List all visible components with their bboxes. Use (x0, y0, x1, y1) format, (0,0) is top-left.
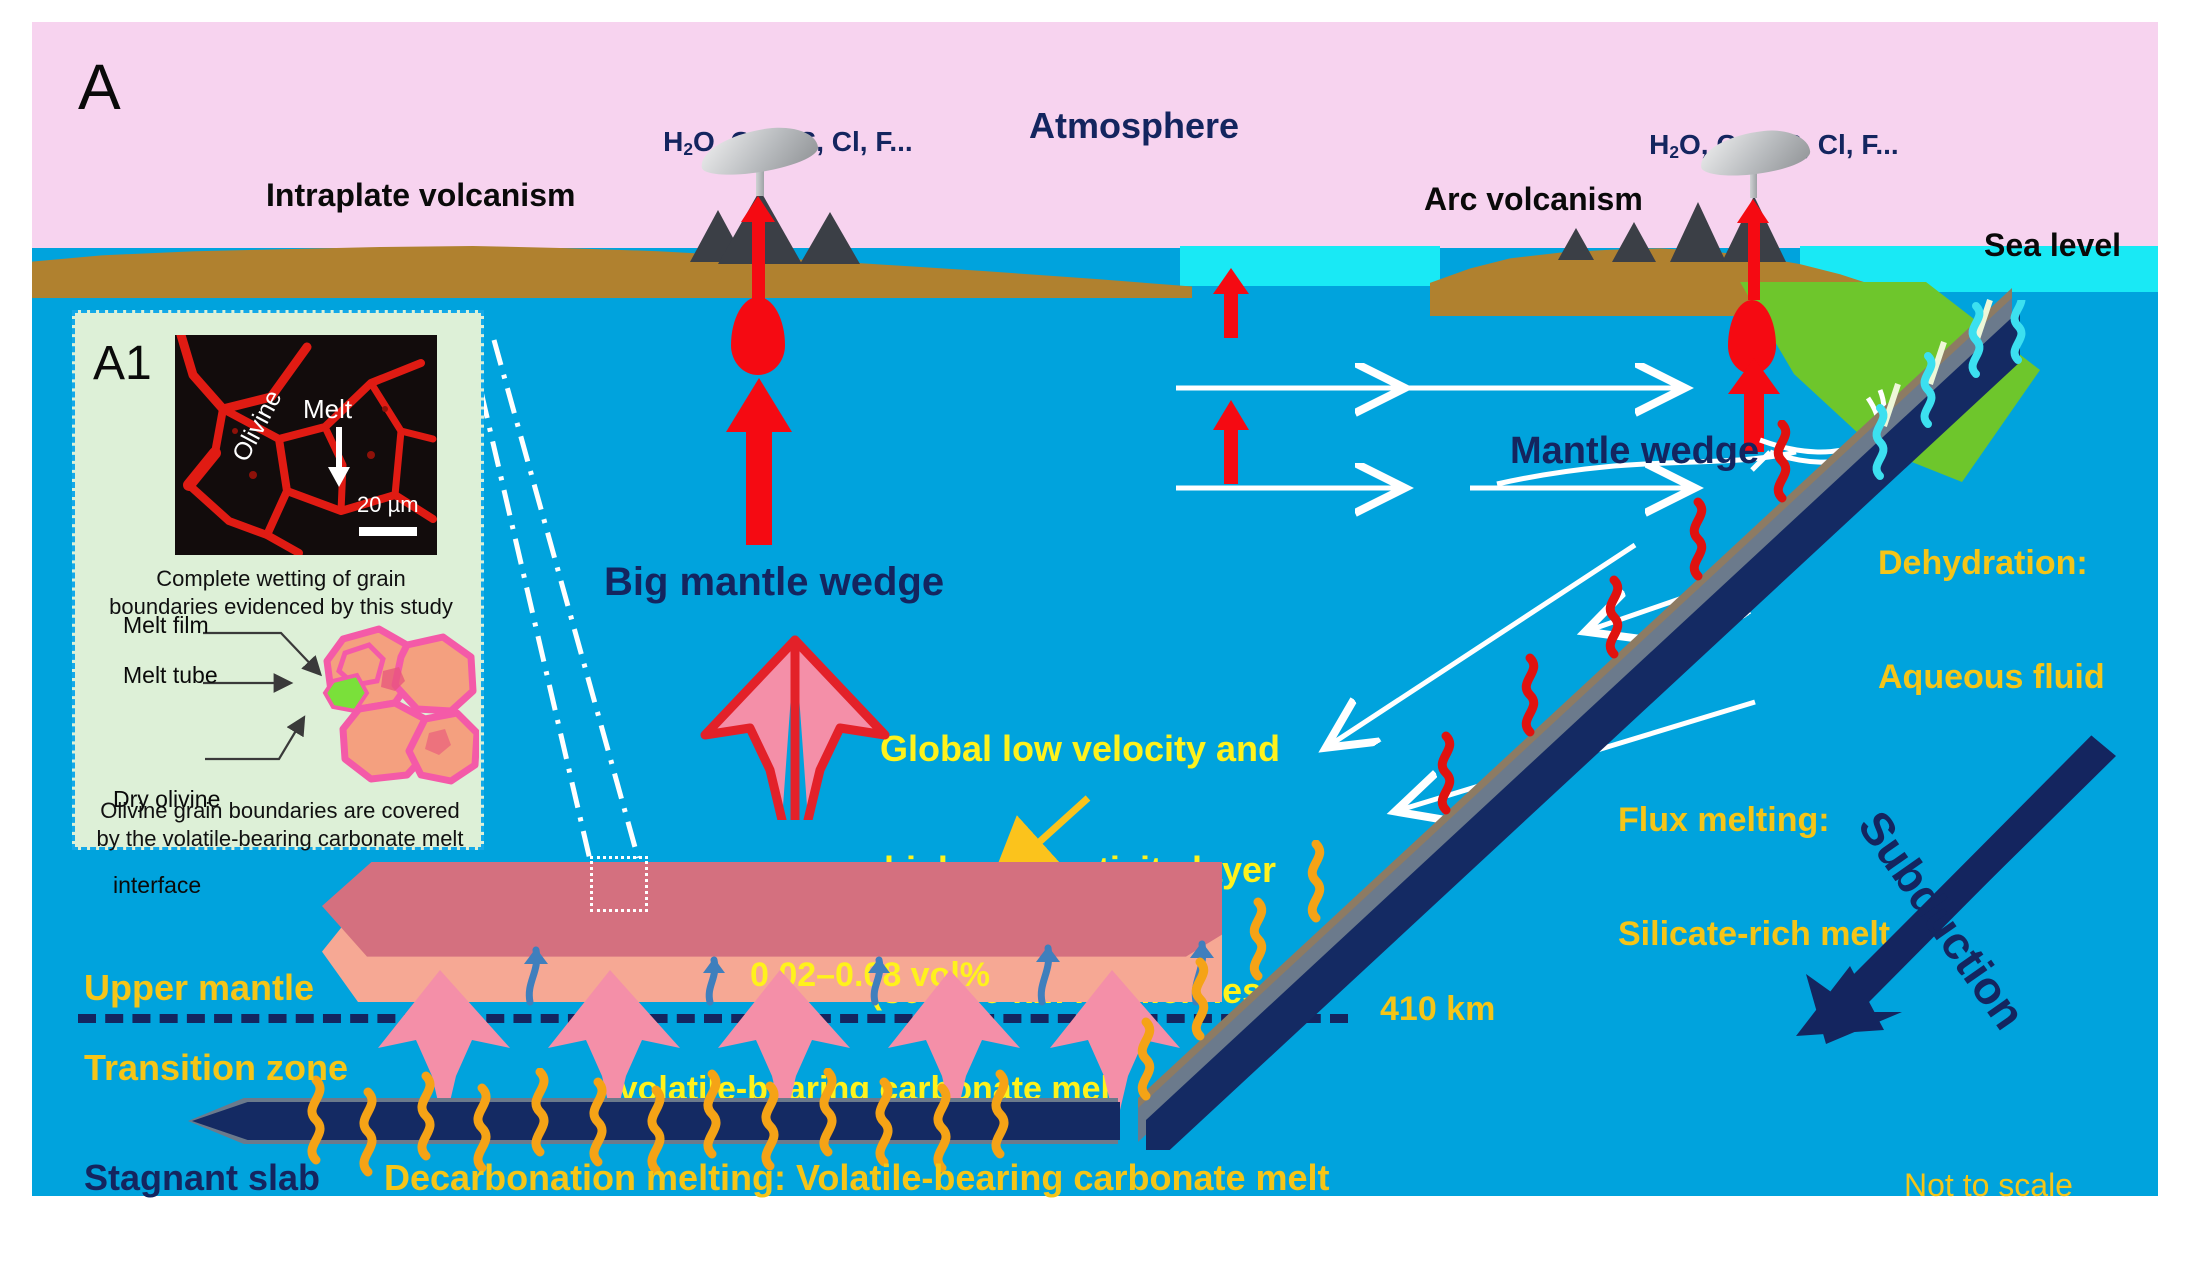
dehydration-line-2: Aqueous fluid (1878, 658, 2105, 696)
volatiles-right-h: H (1649, 129, 1669, 160)
inset-panel-label: A1 (93, 337, 152, 391)
intraplate-volcanism-label: Intraplate volcanism (266, 178, 575, 214)
magma-conduit-head-arc (1737, 199, 1769, 223)
schematic-label-melt-film: Melt film (123, 613, 209, 639)
upper-mantle-label: Upper mantle (84, 968, 314, 1008)
volatiles-right-h-sub: 2 (1669, 142, 1679, 162)
sea-level-label: Sea level (1984, 228, 2121, 264)
volcano-cone-arc-c (1670, 202, 1726, 262)
schematic-label-melt-tube: Melt tube (123, 663, 218, 689)
big-mantle-wedge-label: Big mantle wedge (604, 560, 944, 605)
volatiles-left-h: H (663, 126, 683, 157)
micrograph-melt-label: Melt (303, 395, 352, 424)
magma-conduit-left (752, 216, 765, 300)
volcano-cone-arc-b (1612, 222, 1656, 262)
olivine-melt-micrograph: Melt Olivine 20 µm (175, 335, 437, 555)
not-to-scale-label: Not to scale (1904, 1168, 2073, 1204)
carbonate-melt-squiggles-dipping (1080, 840, 1400, 1140)
stagnant-slab-label: Stagnant slab (84, 1158, 320, 1198)
micrograph-melt-arrow (325, 427, 353, 489)
grain-boundary-network (175, 335, 437, 555)
inset-caption-bottom: Olivine grain boundaries are covered by … (83, 797, 477, 853)
mantle-upwelling-stem-left (746, 430, 772, 545)
panel-label-a: A (78, 52, 121, 124)
transition-zone-label: Transition zone (84, 1048, 348, 1088)
inset-zoom-region-box (590, 856, 648, 912)
micrograph-scale-bar (359, 527, 417, 536)
dehydration-annotation: Dehydration: Aqueous fluid (1878, 468, 2105, 773)
big-wedge-plume (690, 630, 900, 820)
figure-canvas: A Atmosphere Intraplate volcanism Arc vo… (0, 0, 2188, 1280)
dehydration-line-1: Dehydration: (1878, 544, 2105, 582)
inset-caption-bottom-line-2: by the volatile-bearing carbonate melt (83, 825, 477, 853)
atmosphere-label: Atmosphere (1029, 106, 1239, 146)
inset-panel-a1: A1 (72, 310, 484, 850)
volcano-cone-small-right (800, 212, 860, 264)
volcano-cone-arc-a (1558, 228, 1594, 260)
schematic-label-dry-olivine-line-2: interface (113, 871, 220, 900)
decarbonation-annotation: Decarbonation melting: Volatile-bearing … (384, 1158, 1330, 1198)
volatiles-left-h-sub: 2 (683, 139, 693, 159)
micrograph-scale-bar-label: 20 µm (357, 493, 419, 518)
magma-conduit-head-left (741, 196, 775, 222)
mantle-upwelling-head-left (726, 378, 792, 432)
inset-caption-bottom-line-1: Olivine grain boundaries are covered (83, 797, 477, 825)
inset-caption-top-line-1: Complete wetting of grain (89, 565, 473, 593)
arc-volcanism-label: Arc volcanism (1424, 182, 1643, 218)
